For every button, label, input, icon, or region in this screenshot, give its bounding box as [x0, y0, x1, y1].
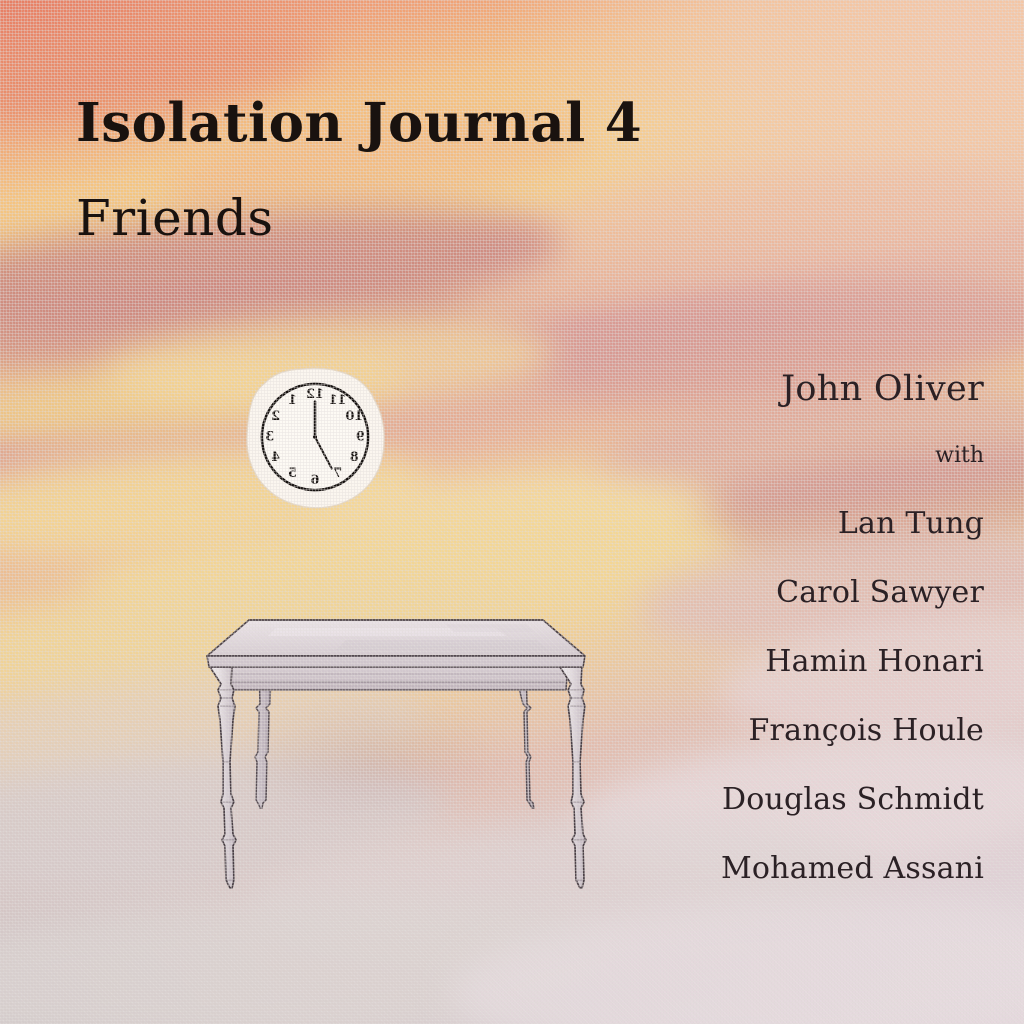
- svg-text:9: 9: [356, 430, 365, 445]
- wall-clock-icon: 12 1 2 3 4 5 6 7 8 9 10 11: [243, 365, 389, 511]
- collaborator-name: François Houle: [564, 716, 984, 746]
- svg-text:2: 2: [271, 409, 280, 424]
- page-title: Isolation Journal 4: [76, 92, 642, 154]
- svg-text:6: 6: [310, 473, 319, 488]
- collaborator-name: Douglas Schmidt: [564, 785, 984, 815]
- svg-text:5: 5: [288, 466, 297, 481]
- collaborator-name: Carol Sawyer: [564, 578, 984, 608]
- collaborator-name: Lan Tung: [564, 509, 984, 539]
- svg-text:12: 12: [306, 387, 324, 402]
- credits-block: John Oliver with Lan Tung Carol Sawyer H…: [564, 372, 984, 884]
- svg-text:4: 4: [271, 450, 280, 465]
- lead-artist-name: John Oliver: [564, 372, 984, 407]
- collaborator-name: Hamin Honari: [564, 647, 984, 677]
- svg-text:3: 3: [265, 430, 274, 445]
- svg-text:7: 7: [333, 466, 342, 481]
- svg-text:11: 11: [329, 393, 347, 408]
- album-cover: 12 1 2 3 4 5 6 7 8 9 10 11: [0, 0, 1024, 1024]
- table-illustration: [196, 612, 596, 917]
- svg-text:10: 10: [345, 409, 363, 424]
- svg-text:8: 8: [350, 450, 359, 465]
- table-svg: [196, 612, 596, 917]
- page-subtitle: Friends: [76, 189, 274, 247]
- with-label: with: [564, 445, 984, 467]
- collaborator-name: Mohamed Assani: [564, 854, 984, 884]
- svg-text:1: 1: [288, 393, 297, 408]
- clock-face: 12 1 2 3 4 5 6 7 8 9 10 11: [256, 378, 374, 496]
